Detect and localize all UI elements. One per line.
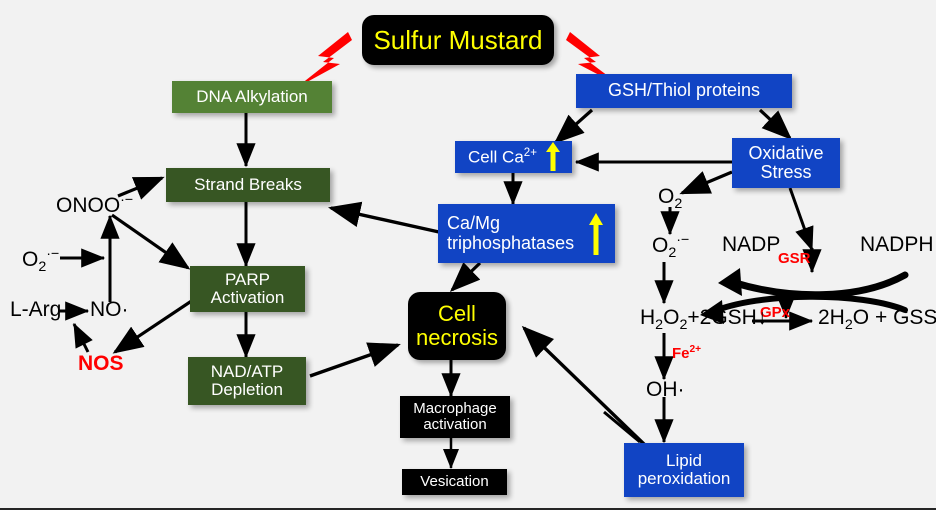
node-oxidative-stress-label-1: Oxidative — [748, 144, 823, 163]
label-superoxide-left: O2·− — [22, 246, 59, 275]
label-l-arginine: L-Arg — [10, 298, 61, 322]
node-vesication[interactable]: Vesication — [402, 469, 507, 495]
node-ca-mg-label-2: triphosphatases — [447, 234, 574, 253]
node-lipid-peroxidation-label-1: Lipid — [666, 452, 702, 470]
lightning-bolt-left-icon — [296, 32, 352, 88]
node-dna-alkylation-label: DNA Alkylation — [196, 88, 308, 106]
cell-calcium-increase-arrow-icon — [545, 141, 561, 172]
node-macrophage-activation-label-2: activation — [423, 417, 486, 433]
label-iron-catalyst: Fe2+ — [672, 344, 701, 362]
label-hydrogen-peroxide-gsh: H2O2+2GSH↓ — [640, 306, 767, 333]
node-oxidative-stress[interactable]: Oxidative Stress — [732, 138, 840, 188]
label-oxygen: O2 — [658, 185, 682, 212]
node-cell-necrosis-label-2: necrosis — [416, 326, 498, 350]
node-strand-breaks[interactable]: Strand Breaks — [166, 168, 330, 202]
node-sulfur-mustard[interactable]: Sulfur Mustard — [362, 15, 554, 65]
node-parp-activation-label-1: PARP — [225, 271, 270, 289]
node-dna-alkylation[interactable]: DNA Alkylation — [172, 81, 332, 113]
label-gsr-enzyme: GSR — [778, 250, 811, 267]
label-hydroxyl-radical: OH· — [646, 378, 685, 402]
node-gsh-thiol-proteins-label: GSH/Thiol proteins — [608, 81, 760, 100]
node-nad-atp-depletion[interactable]: NAD/ATP Depletion — [188, 357, 306, 405]
label-nos-enzyme: NOS — [78, 352, 124, 376]
node-parp-activation[interactable]: PARP Activation — [190, 266, 305, 312]
node-lipid-peroxidation[interactable]: Lipid peroxidation — [624, 443, 744, 497]
node-cell-necrosis[interactable]: Cell necrosis — [408, 292, 506, 360]
node-gsh-thiol-proteins[interactable]: GSH/Thiol proteins — [576, 74, 792, 108]
node-lipid-peroxidation-label-2: peroxidation — [638, 470, 731, 488]
node-macrophage-activation[interactable]: Macrophage activation — [400, 396, 510, 438]
node-nad-atp-depletion-label-1: NAD/ATP — [211, 363, 283, 381]
node-parp-activation-label-2: Activation — [211, 289, 285, 307]
node-sulfur-mustard-label: Sulfur Mustard — [373, 26, 542, 54]
node-cell-calcium-label: Cell Ca2+ — [468, 147, 537, 167]
label-peroxynitrite: ONOO·− — [56, 192, 133, 218]
node-vesication-label: Vesication — [420, 474, 488, 490]
label-superoxide-right: O2·− — [652, 232, 689, 261]
label-nadph: NADPH — [860, 233, 934, 257]
label-nadp: NADP — [722, 233, 780, 257]
node-oxidative-stress-label-2: Stress — [760, 163, 811, 182]
label-water-gssg-product: 2H2O + GSSG↑ — [818, 306, 936, 333]
node-ca-mg-label-1: Ca/Mg — [447, 214, 500, 233]
node-nad-atp-depletion-label-2: Depletion — [211, 381, 283, 399]
ca-mg-increase-arrow-icon — [588, 212, 604, 256]
node-cell-necrosis-label-1: Cell — [438, 302, 476, 326]
label-nitric-oxide: NO· — [90, 298, 129, 322]
diagram-canvas: Sulfur Mustard DNA Alkylation Strand Bre… — [0, 0, 936, 510]
node-strand-breaks-label: Strand Breaks — [194, 176, 302, 194]
node-macrophage-activation-label-1: Macrophage — [413, 401, 496, 417]
